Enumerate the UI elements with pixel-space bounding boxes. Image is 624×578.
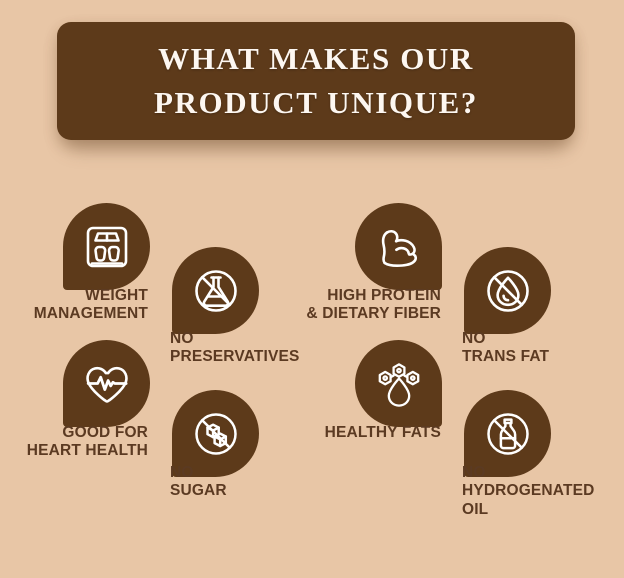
omega-droplet-molecule-icon xyxy=(371,356,427,412)
label-no-trans-fat: NO TRANS FAT xyxy=(462,330,624,367)
label-weight-management: WEIGHT MANAGEMENT xyxy=(0,287,148,324)
label-good-for-heart-health: GOOD FOR HEART HEALTH xyxy=(0,424,148,461)
no-droplet-icon xyxy=(481,264,535,318)
label-no-hydrogenated-oil: NO HYDROGENATED OIL xyxy=(462,464,624,519)
label-healthy-fats: HEALTHY FATS xyxy=(281,424,441,442)
badge-healthy-fats[interactable] xyxy=(355,340,442,427)
no-sugar-cubes-icon xyxy=(189,407,243,461)
no-oil-bottle-icon xyxy=(481,407,535,461)
flexed-bicep-icon xyxy=(371,219,427,275)
badge-no-trans-fat[interactable] xyxy=(464,247,551,334)
badge-high-protein-dietary-fiber[interactable] xyxy=(355,203,442,290)
weight-scale-icon xyxy=(80,220,134,274)
label-no-preservatives: NO PRESERVATIVES xyxy=(170,330,360,367)
heart-pulse-icon xyxy=(79,356,135,412)
label-high-protein-dietary-fiber: HIGH PROTEIN & DIETARY FIBER xyxy=(281,287,441,324)
badge-weight-management[interactable] xyxy=(63,203,150,290)
infographic-canvas: WHAT MAKES OUR PRODUCT UNIQUE? WEIGHT MA… xyxy=(0,0,624,578)
label-no-sugar: NO SUGAR xyxy=(170,464,360,501)
page-title: WHAT MAKES OUR PRODUCT UNIQUE? xyxy=(81,37,551,125)
badge-good-for-heart-health[interactable] xyxy=(63,340,150,427)
title-banner: WHAT MAKES OUR PRODUCT UNIQUE? xyxy=(57,22,575,140)
title-banner-body: WHAT MAKES OUR PRODUCT UNIQUE? xyxy=(57,22,575,140)
badge-no-preservatives[interactable] xyxy=(172,247,259,334)
no-flask-icon xyxy=(189,264,243,318)
